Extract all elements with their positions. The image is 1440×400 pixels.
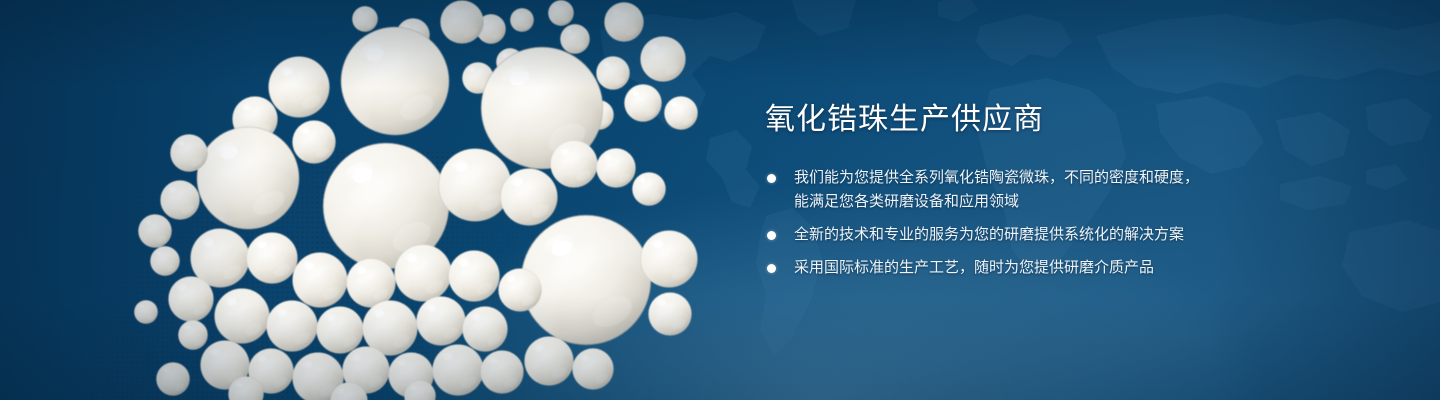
list-item: 我们能为您提供全系列氧化锆陶瓷微珠，不同的密度和硬度，能满足您各类研磨设备和应用…	[765, 166, 1205, 214]
bullet-dot-icon	[767, 174, 776, 183]
bullet-dot-icon	[767, 264, 776, 273]
page-title: 氧化锆珠生产供应商	[765, 100, 1205, 140]
feature-list: 我们能为您提供全系列氧化锆陶瓷微珠，不同的密度和硬度，能满足您各类研磨设备和应用…	[765, 166, 1205, 280]
list-item: 全新的技术和专业的服务为您的研磨提供系统化的解决方案	[765, 223, 1205, 247]
list-item: 采用国际标准的生产工艺，随时为您提供研磨介质产品	[765, 256, 1205, 280]
hero-banner: 氧化锆珠生产供应商 我们能为您提供全系列氧化锆陶瓷微珠，不同的密度和硬度，能满足…	[0, 0, 1440, 400]
bullet-dot-icon	[767, 231, 776, 240]
banner-background	[0, 0, 1440, 400]
list-item-label: 全新的技术和专业的服务为您的研磨提供系统化的解决方案	[794, 226, 1184, 243]
list-item-label: 采用国际标准的生产工艺，随时为您提供研磨介质产品	[794, 259, 1154, 276]
list-item-label: 我们能为您提供全系列氧化锆陶瓷微珠，不同的密度和硬度，能满足您各类研磨设备和应用…	[794, 169, 1199, 210]
banner-content: 氧化锆珠生产供应商 我们能为您提供全系列氧化锆陶瓷微珠，不同的密度和硬度，能满足…	[765, 100, 1205, 280]
